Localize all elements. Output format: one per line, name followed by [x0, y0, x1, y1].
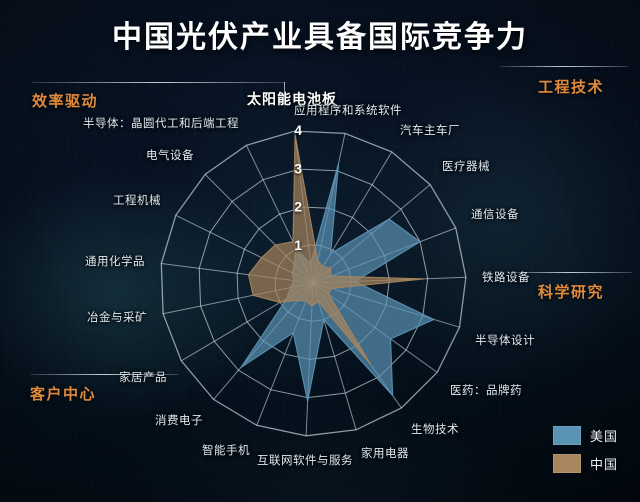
section-header-efficiency: 效率驱动 — [32, 90, 98, 111]
section-header-engineering: 工程技术 — [538, 76, 604, 97]
axis-label-2: 汽车主车厂 — [400, 122, 460, 138]
legend-label-cn: 中国 — [590, 454, 618, 473]
axis-label-15: 通用化学品 — [85, 253, 145, 269]
axis-label-16: 工程机械 — [113, 192, 161, 208]
axis-label-18: 半导体：晶圆代工和后端工程 — [83, 115, 239, 131]
axis-label-7: 医药：品牌药 — [450, 382, 522, 398]
axis-label-6: 半导体设计 — [475, 332, 535, 348]
axis-label-11: 智能手机 — [202, 442, 250, 458]
axis-label-10: 互联网软件与服务 — [257, 452, 353, 468]
axis-label-4: 通信设备 — [471, 206, 519, 222]
axis-label-3: 医疗器械 — [442, 158, 490, 174]
svg-text:1: 1 — [294, 237, 302, 253]
page-title: 中国光伏产业具备国际竞争力 — [0, 12, 640, 56]
axis-label-8: 生物技术 — [411, 421, 459, 437]
axis-label-17: 电气设备 — [146, 147, 194, 163]
axis-label-13: 家居产品 — [119, 369, 167, 385]
divider-efficiency — [32, 82, 284, 83]
axis-label-1: 应用程序和系统软件 — [294, 102, 402, 118]
svg-text:2: 2 — [294, 199, 302, 215]
legend-item-us: 美国 — [553, 426, 618, 445]
axis-label-12: 消费电子 — [155, 412, 203, 428]
divider-customer — [30, 374, 178, 375]
legend-swatch-cn — [553, 454, 581, 473]
section-header-customer: 客户中心 — [30, 383, 96, 404]
axis-label-9: 家用电器 — [361, 445, 409, 461]
section-header-science: 科学研究 — [538, 281, 604, 302]
axis-label-14: 冶金与采矿 — [87, 309, 147, 325]
divider-efficiency-vertical — [284, 82, 285, 108]
chart-legend: 美国 中国 — [553, 426, 618, 482]
svg-text:4: 4 — [294, 122, 302, 138]
legend-label-us: 美国 — [590, 426, 618, 445]
legend-swatch-us — [553, 426, 581, 445]
divider-engineering — [500, 66, 628, 67]
svg-text:3: 3 — [294, 160, 302, 176]
legend-item-cn: 中国 — [553, 454, 618, 473]
divider-science — [508, 272, 632, 273]
